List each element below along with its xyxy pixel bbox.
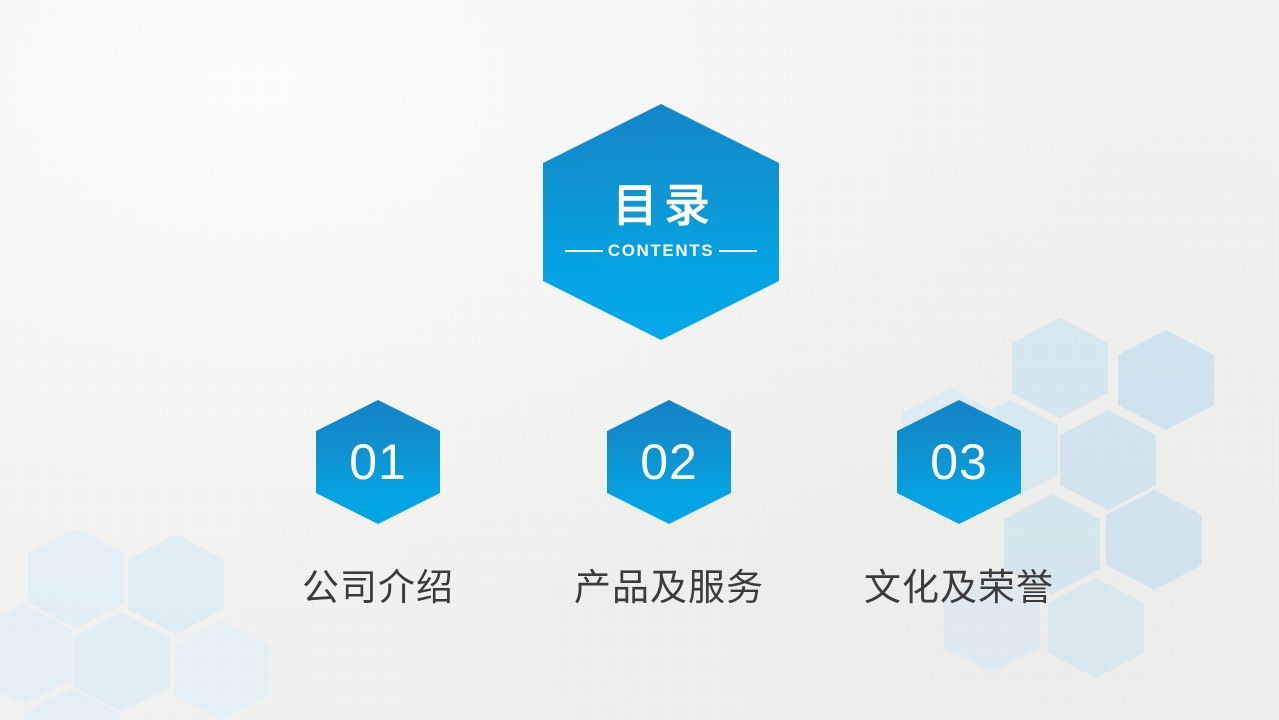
contents-badge[interactable]: 目录 CONTENTS (543, 104, 779, 340)
contents-badge-content: 目录 CONTENTS (543, 104, 779, 340)
slide-canvas: 目录 CONTENTS 01 公司介绍 02 产品及服务 (0, 0, 1279, 720)
agenda-hexagon-02[interactable]: 02 (607, 400, 731, 524)
agenda-item-01[interactable]: 01 公司介绍 (248, 400, 508, 611)
decorative-hexagon (174, 620, 270, 720)
agenda-items-row: 01 公司介绍 02 产品及服务 03 文化及荣誉 (0, 400, 1279, 630)
contents-subtitle: CONTENTS (603, 241, 719, 261)
agenda-item-02[interactable]: 02 产品及服务 (539, 400, 799, 611)
agenda-hexagon-03[interactable]: 03 (897, 400, 1021, 524)
contents-subtitle-row: CONTENTS (555, 241, 767, 261)
agenda-number-02: 02 (607, 400, 731, 524)
agenda-item-03[interactable]: 03 文化及荣誉 (829, 400, 1089, 611)
agenda-number-01: 01 (316, 400, 440, 524)
agenda-label-03: 文化及荣誉 (864, 557, 1054, 611)
divider-line-left (565, 250, 603, 252)
agenda-hexagon-01[interactable]: 01 (316, 400, 440, 524)
agenda-number-03: 03 (897, 400, 1021, 524)
agenda-label-01: 公司介绍 (302, 557, 454, 611)
agenda-label-02: 产品及服务 (574, 557, 764, 611)
divider-line-right (719, 250, 757, 252)
contents-title: 目录 (605, 183, 716, 228)
